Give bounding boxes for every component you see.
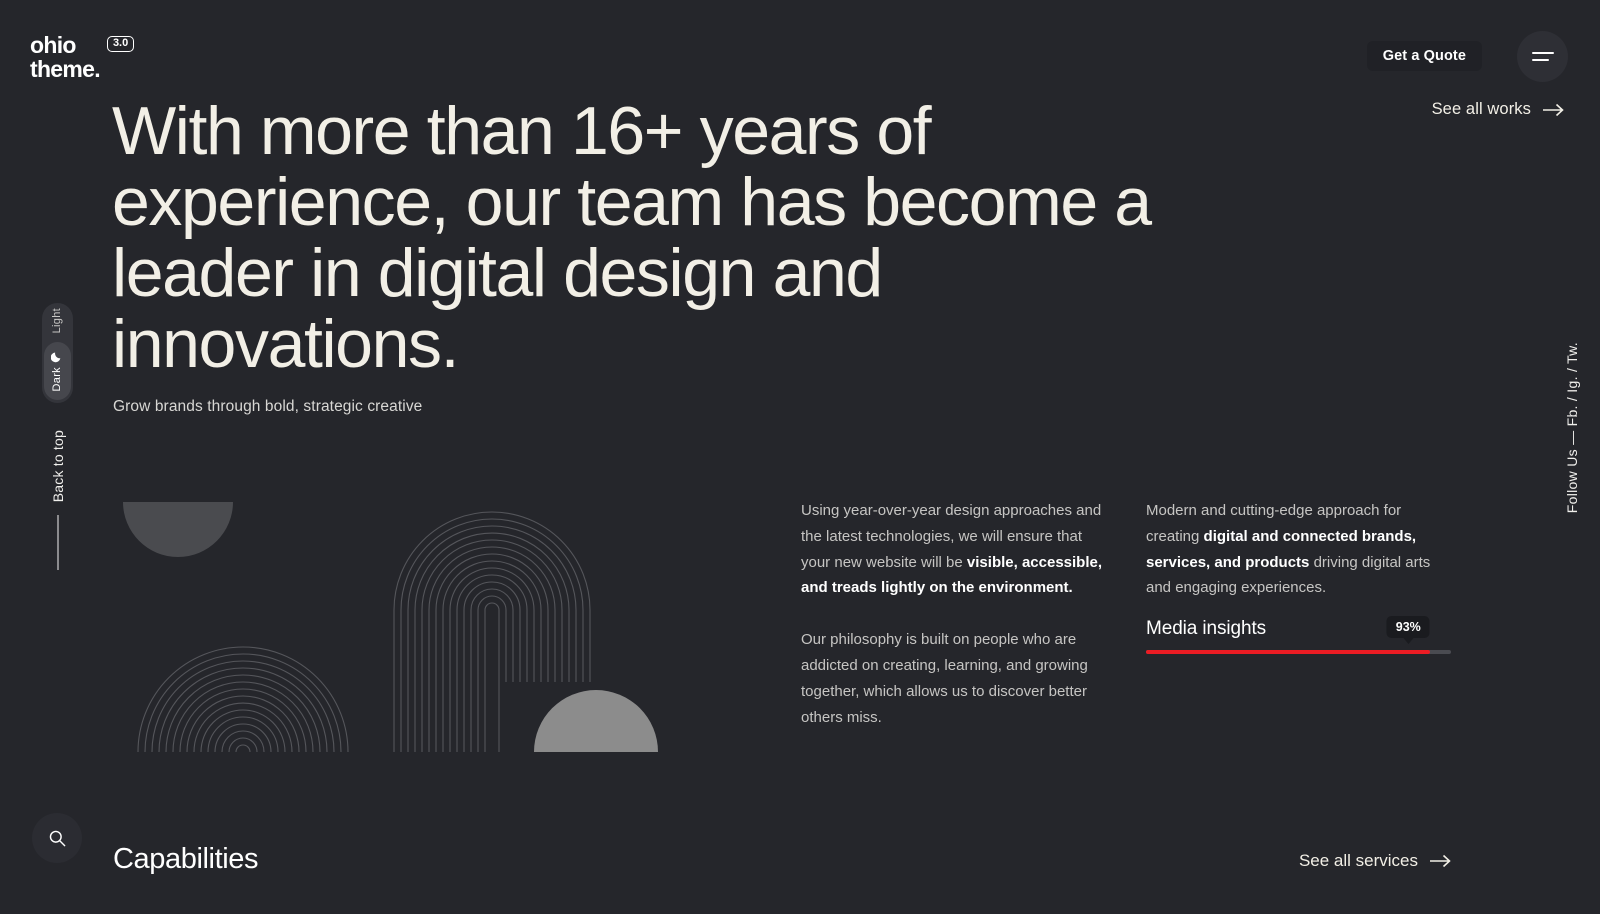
back-to-top-link[interactable]: Back to top <box>50 430 66 570</box>
paragraph-three: Modern and cutting-edge approach for cre… <box>1146 498 1441 601</box>
arc-cluster-left <box>138 647 348 752</box>
arrow-right-icon <box>1430 854 1452 868</box>
half-disc-light <box>534 690 658 752</box>
paragraph-one: Using year-over-year design approaches a… <box>801 498 1106 601</box>
back-to-top-label: Back to top <box>50 430 66 502</box>
half-disc-dark <box>123 502 233 557</box>
moon-icon <box>51 350 64 363</box>
follow-us-links[interactable]: Follow Us — Fb. / Ig. / Tw. <box>1564 342 1580 513</box>
theme-toggle-dark-option[interactable]: Dark <box>44 342 71 400</box>
decorative-arcs-graphic <box>108 482 668 752</box>
search-glyph <box>48 829 67 848</box>
brand-line-1: ohio <box>30 34 100 58</box>
page-title: With more than 16+ years of experience, … <box>112 96 1162 380</box>
see-all-services-label: See all services <box>1299 851 1418 871</box>
theme-toggle[interactable]: Light Dark <box>42 303 73 403</box>
progress-track[interactable]: 93% <box>1146 650 1451 654</box>
theme-toggle-dark-label: Dark <box>52 367 63 391</box>
brand-logo-text: ohio theme. <box>30 34 100 81</box>
menu-bar-bottom <box>1532 59 1549 61</box>
brand-version-badge: 3.0 <box>107 36 134 52</box>
see-all-works-label: See all works <box>1432 100 1531 119</box>
progress-value-tooltip: 93% <box>1387 616 1430 638</box>
get-a-quote-button[interactable]: Get a Quote <box>1367 41 1482 71</box>
brand-logo[interactable]: ohio theme. 3.0 <box>30 34 134 81</box>
menu-bar-top <box>1532 52 1554 54</box>
theme-toggle-light-label[interactable]: Light <box>52 308 63 333</box>
search-icon[interactable] <box>32 813 82 863</box>
hero-subtitle: Grow brands through bold, strategic crea… <box>113 398 422 416</box>
media-insights-progress: Media insights 93% <box>1146 618 1451 654</box>
hamburger-menu-icon[interactable] <box>1517 31 1568 82</box>
paragraph-two: Our philosophy is built on people who ar… <box>801 627 1106 730</box>
progress-fill <box>1146 650 1430 654</box>
page-root: ohio theme. 3.0 Get a Quote See all work… <box>0 0 1600 914</box>
arrow-right-icon <box>1543 103 1565 117</box>
capabilities-heading: Capabilities <box>113 843 258 876</box>
see-all-services-link[interactable]: See all services <box>1299 851 1452 871</box>
back-to-top-line <box>57 515 59 570</box>
brand-line-2: theme. <box>30 58 100 82</box>
content-column-two: Modern and cutting-edge approach for cre… <box>1146 498 1441 627</box>
content-column-one: Using year-over-year design approaches a… <box>801 498 1106 756</box>
see-all-works-link[interactable]: See all works <box>1432 100 1565 119</box>
